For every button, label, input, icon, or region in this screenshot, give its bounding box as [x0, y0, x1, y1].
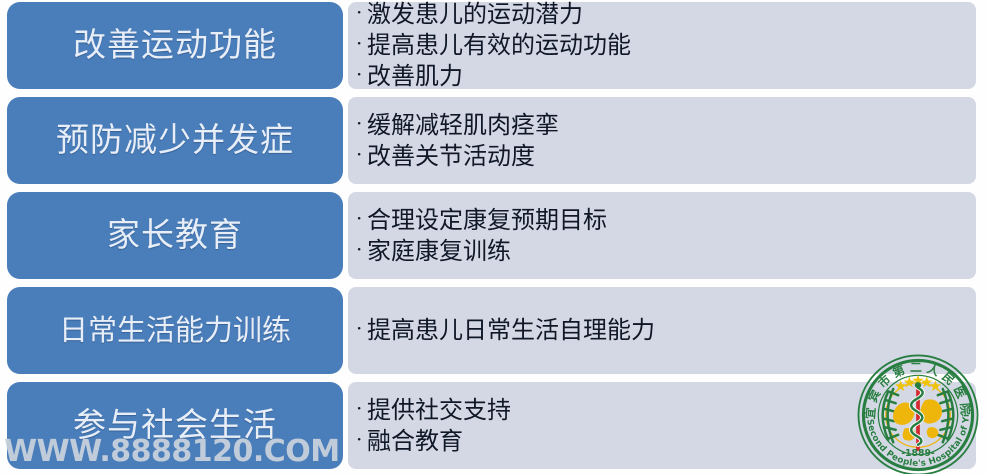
detail-text: 缓解减轻肌肉痉挛: [367, 110, 559, 141]
bullet-icon: ·: [356, 205, 367, 232]
hospital-logo: -1889- 宜宾市第二人民医院 The Second People's Hos…: [856, 353, 980, 474]
detail-text: 改善关节活动度: [367, 141, 535, 172]
bullet-icon: ·: [356, 30, 367, 57]
bullet-icon: ·: [356, 0, 367, 26]
goal-row: 预防减少并发症 · 缓解减轻肌肉痉挛 · 改善关节活动度: [0, 97, 988, 184]
bullet-icon: ·: [356, 110, 367, 137]
detail-bullet: · 提高患儿有效的运动功能: [356, 30, 976, 61]
detail-panel-2[interactable]: · 缓解减轻肌肉痉挛 · 改善关节活动度: [348, 97, 976, 184]
slide-canvas: 改善运动功能 · 激发患儿的运动潜力 · 提高患儿有效的运动功能 · 改善肌力 …: [0, 0, 988, 474]
detail-text: 激发患儿的运动潜力: [367, 0, 583, 30]
goal-label-1: 改善运动功能: [73, 28, 277, 63]
goal-label-4: 日常生活能力训练: [59, 315, 291, 345]
bullet-icon: ·: [356, 426, 367, 453]
detail-bullet: · 家庭康复训练: [356, 236, 976, 267]
goal-box-2[interactable]: 预防减少并发症: [7, 97, 343, 184]
detail-bullet: · 激发患儿的运动潜力: [356, 0, 976, 30]
detail-bullet: · 改善关节活动度: [356, 141, 976, 172]
bullet-icon: ·: [356, 141, 367, 168]
detail-text: 合理设定康复预期目标: [367, 205, 607, 236]
goal-label-2: 预防减少并发症: [56, 123, 294, 158]
detail-panel-3[interactable]: · 合理设定康复预期目标 · 家庭康复训练: [348, 192, 976, 279]
detail-text: 家庭康复训练: [367, 236, 511, 267]
goal-box-4[interactable]: 日常生活能力训练: [7, 287, 343, 374]
bullet-icon: ·: [356, 236, 367, 263]
site-watermark: WWW.8888120.COM: [4, 434, 340, 469]
goal-row: 家长教育 · 合理设定康复预期目标 · 家庭康复训练: [0, 192, 988, 279]
goal-box-1[interactable]: 改善运动功能: [7, 2, 343, 89]
detail-bullet: · 改善肌力: [356, 61, 976, 92]
detail-bullet: · 提高患儿日常生活自理能力: [356, 315, 976, 346]
goal-row: 日常生活能力训练 · 提高患儿日常生活自理能力: [0, 287, 988, 374]
bullet-icon: ·: [356, 61, 367, 88]
detail-text: 提高患儿日常生活自理能力: [367, 315, 655, 346]
detail-text: 改善肌力: [367, 61, 463, 92]
detail-text: 提供社交支持: [367, 395, 511, 426]
detail-bullet: · 合理设定康复预期目标: [356, 205, 976, 236]
bullet-icon: ·: [356, 395, 367, 422]
detail-panel-1[interactable]: · 激发患儿的运动潜力 · 提高患儿有效的运动功能 · 改善肌力: [348, 2, 976, 89]
bullet-icon: ·: [356, 315, 367, 342]
detail-bullet: · 缓解减轻肌肉痉挛: [356, 110, 976, 141]
goal-box-3[interactable]: 家长教育: [7, 192, 343, 279]
goal-row: 改善运动功能 · 激发患儿的运动潜力 · 提高患儿有效的运动功能 · 改善肌力: [0, 2, 988, 89]
detail-text: 提高患儿有效的运动功能: [367, 30, 631, 61]
detail-text: 融合教育: [367, 426, 463, 457]
goal-label-3: 家长教育: [107, 218, 243, 253]
